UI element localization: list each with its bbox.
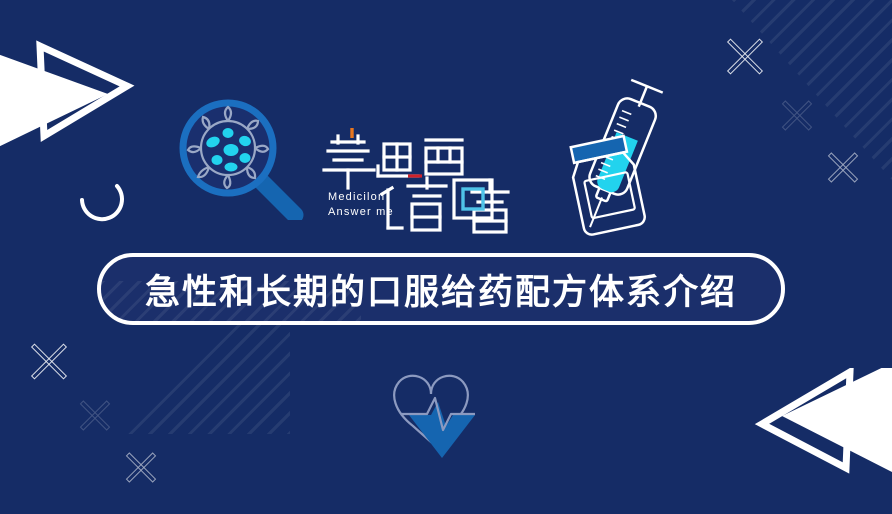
x-cross-icon bbox=[76, 396, 114, 434]
banner-root: Medicilon Answer me 急性和长期的口服给药配方体系介绍 bbox=[0, 0, 892, 514]
syringe-vial-icon bbox=[550, 73, 675, 253]
arc-circle-icon bbox=[70, 172, 130, 237]
x-cross-icon bbox=[778, 96, 816, 134]
x-cross-icon bbox=[26, 338, 72, 384]
double-arrow-left-icon bbox=[752, 368, 892, 514]
x-cross-icon bbox=[722, 33, 768, 79]
magnifier-virus-icon bbox=[175, 95, 310, 225]
heart-pulse-icon bbox=[383, 368, 488, 468]
double-arrow-right-icon bbox=[0, 18, 140, 153]
logo-block: Medicilon Answer me bbox=[322, 118, 522, 238]
logo-chinese-glyphs bbox=[322, 118, 522, 238]
x-cross-icon bbox=[122, 448, 160, 486]
title-pill: 急性和长期的口服给药配方体系介绍 bbox=[97, 253, 785, 325]
top-right-diagonal-stripes bbox=[732, 0, 892, 180]
logo-english-line1: Medicilon bbox=[328, 190, 394, 205]
page-title: 急性和长期的口服给药配方体系介绍 bbox=[145, 264, 737, 315]
x-cross-icon bbox=[824, 148, 862, 186]
logo-english-text: Medicilon Answer me bbox=[328, 190, 394, 220]
logo-english-line2: Answer me bbox=[328, 205, 394, 220]
